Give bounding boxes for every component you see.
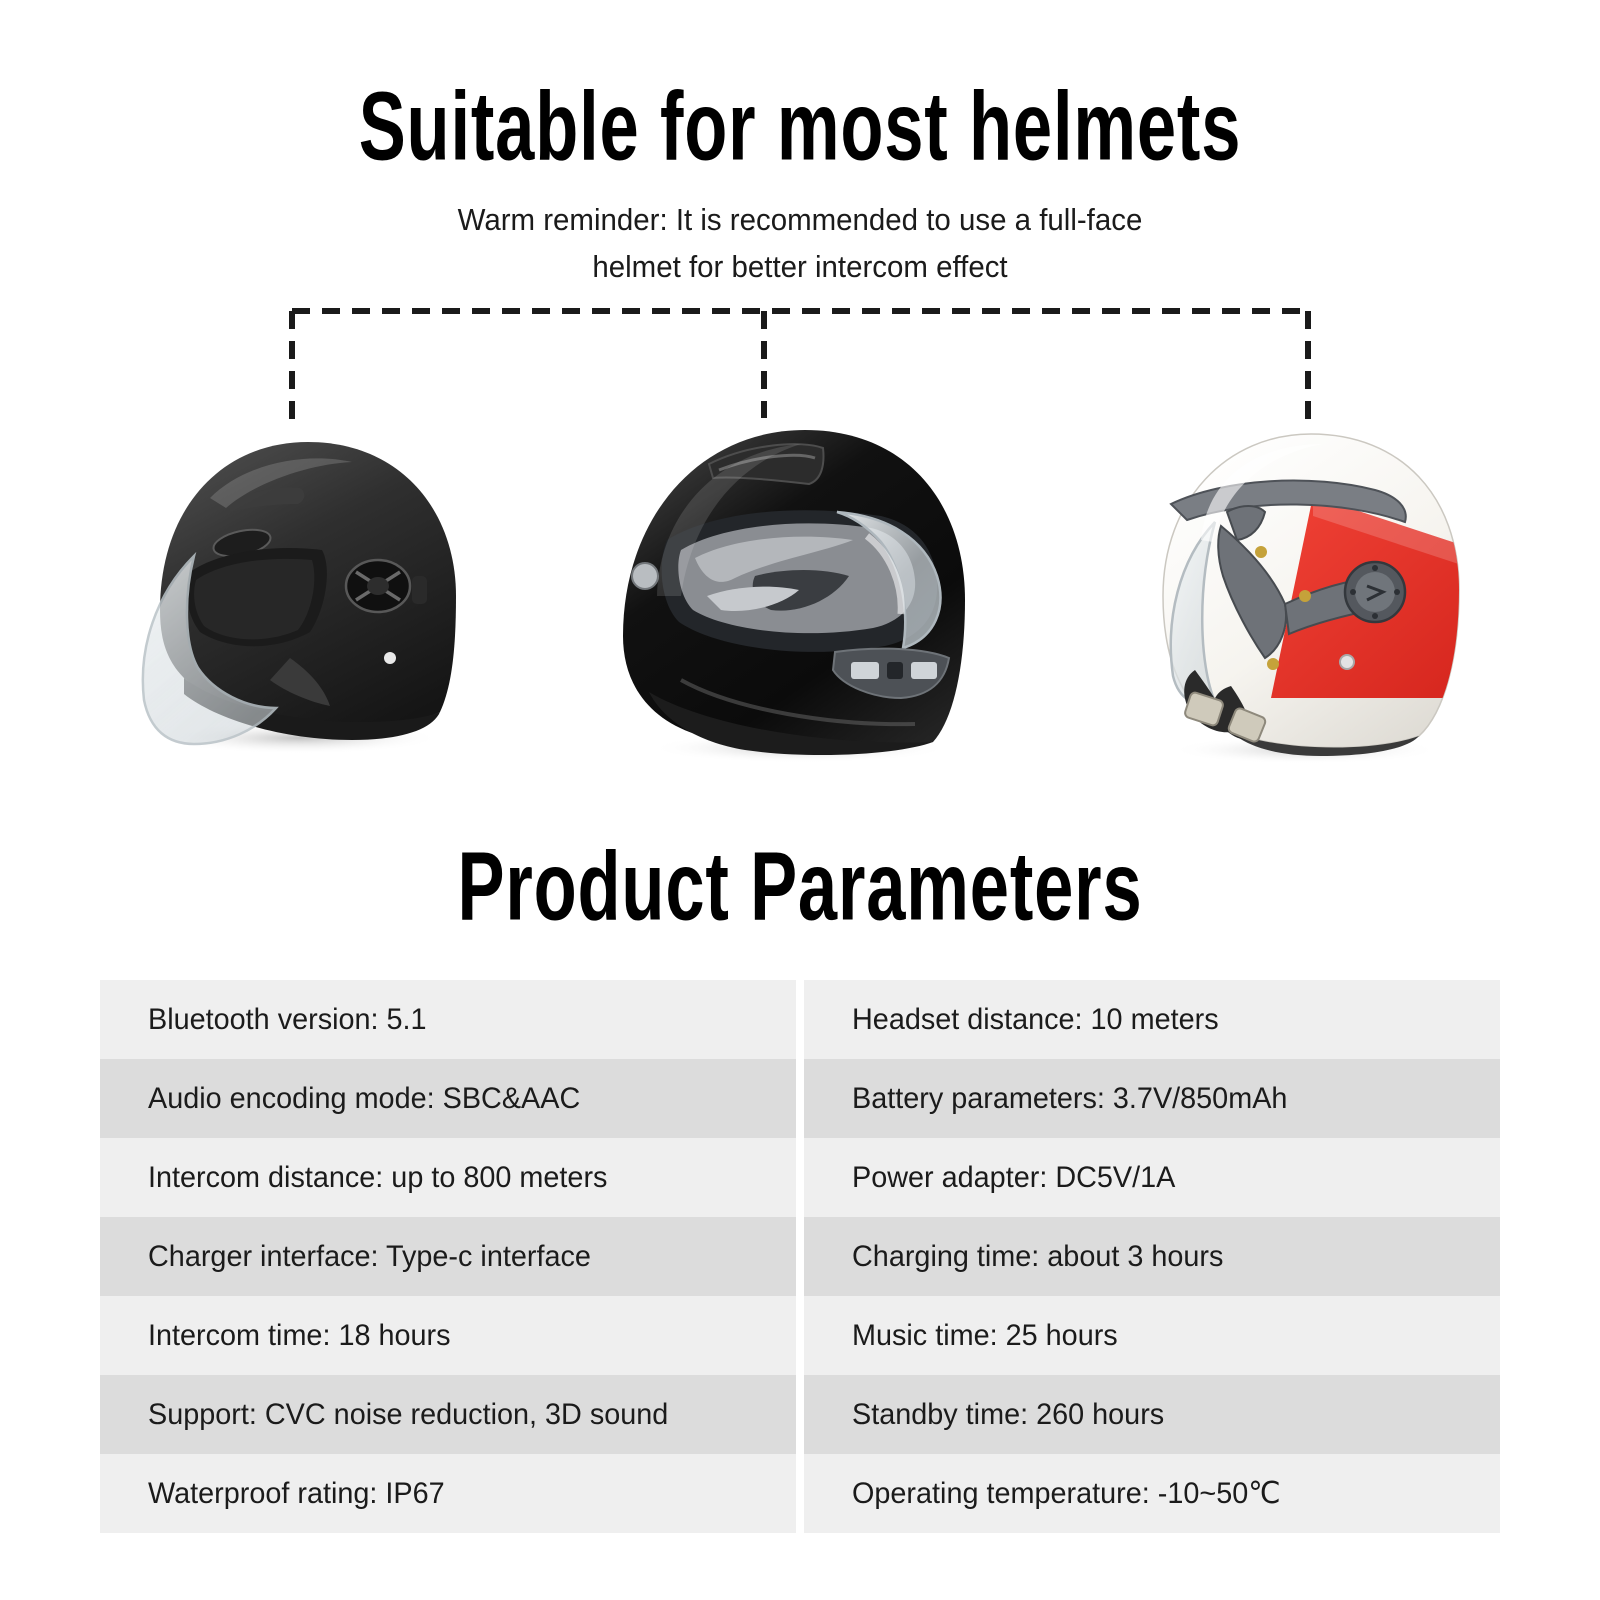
param-text: Music time: 25 hours <box>852 1319 1118 1353</box>
helmet-side-vent <box>346 560 410 612</box>
param-text: Power adapter: DC5V/1A <box>852 1161 1175 1195</box>
helmet-screw-upper <box>1255 546 1267 558</box>
param-text: Intercom time: 18 hours <box>148 1319 451 1353</box>
param-text: Bluetooth version: 5.1 <box>148 1003 427 1037</box>
table-row: Waterproof rating: IP67 <box>100 1454 796 1533</box>
helmet-visor-pivot <box>632 563 658 589</box>
helmet-image-full-face-black <box>585 400 1005 770</box>
page-title: Suitable for most helmets <box>144 78 1456 175</box>
helmet-screw-lower <box>1267 658 1279 670</box>
helmet-visor-pivot-dial <box>1345 562 1405 622</box>
parameters-left-column: Bluetooth version: 5.1 Audio encoding mo… <box>100 980 796 1533</box>
param-text: Operating temperature: -10~50℃ <box>852 1476 1281 1511</box>
product-parameters-title: Product Parameters <box>144 838 1456 935</box>
param-text: Charging time: about 3 hours <box>852 1240 1223 1274</box>
infographic-page: Suitable for most helmets Warm reminder:… <box>0 0 1600 1600</box>
helmet-image-jet-white-red <box>1075 400 1495 770</box>
product-parameters-table: Bluetooth version: 5.1 Audio encoding mo… <box>100 980 1500 1533</box>
param-text: Audio encoding mode: SBC&AAC <box>148 1082 580 1116</box>
param-text: Standby time: 260 hours <box>852 1398 1164 1432</box>
table-row: Charging time: about 3 hours <box>804 1217 1500 1296</box>
table-row: Operating temperature: -10~50℃ <box>804 1454 1500 1533</box>
table-row: Power adapter: DC5V/1A <box>804 1138 1500 1217</box>
param-text: Charger interface: Type-c interface <box>148 1240 591 1274</box>
subtitle-line-1: Warm reminder: It is recommended to use … <box>40 196 1560 243</box>
table-row: Intercom time: 18 hours <box>100 1296 796 1375</box>
param-text: Battery parameters: 3.7V/850mAh <box>852 1082 1287 1116</box>
param-text: Intercom distance: up to 800 meters <box>148 1161 607 1195</box>
table-row: Battery parameters: 3.7V/850mAh <box>804 1059 1500 1138</box>
parameters-right-column: Headset distance: 10 meters Battery para… <box>804 980 1500 1533</box>
param-text: Waterproof rating: IP67 <box>148 1477 445 1511</box>
helmet-screw-mid <box>1299 590 1311 602</box>
subtitle-line-2: helmet for better intercom effect <box>40 243 1560 290</box>
helmet-image-open-face-black <box>60 400 500 770</box>
table-row: Standby time: 260 hours <box>804 1375 1500 1454</box>
table-row: Music time: 25 hours <box>804 1296 1500 1375</box>
table-row: Audio encoding mode: SBC&AAC <box>100 1059 796 1138</box>
param-text: Headset distance: 10 meters <box>852 1003 1219 1037</box>
helmet-snap-button <box>1340 655 1354 669</box>
helmet-snap-button <box>384 652 396 664</box>
subtitle-block: Warm reminder: It is recommended to use … <box>40 196 1560 290</box>
table-row: Bluetooth version: 5.1 <box>100 980 796 1059</box>
helmet-side-clip <box>412 576 427 604</box>
table-row: Headset distance: 10 meters <box>804 980 1500 1059</box>
table-row: Support: CVC noise reduction, 3D sound <box>100 1375 796 1454</box>
table-row: Intercom distance: up to 800 meters <box>100 1138 796 1217</box>
param-text: Support: CVC noise reduction, 3D sound <box>148 1398 668 1432</box>
table-row: Charger interface: Type-c interface <box>100 1217 796 1296</box>
